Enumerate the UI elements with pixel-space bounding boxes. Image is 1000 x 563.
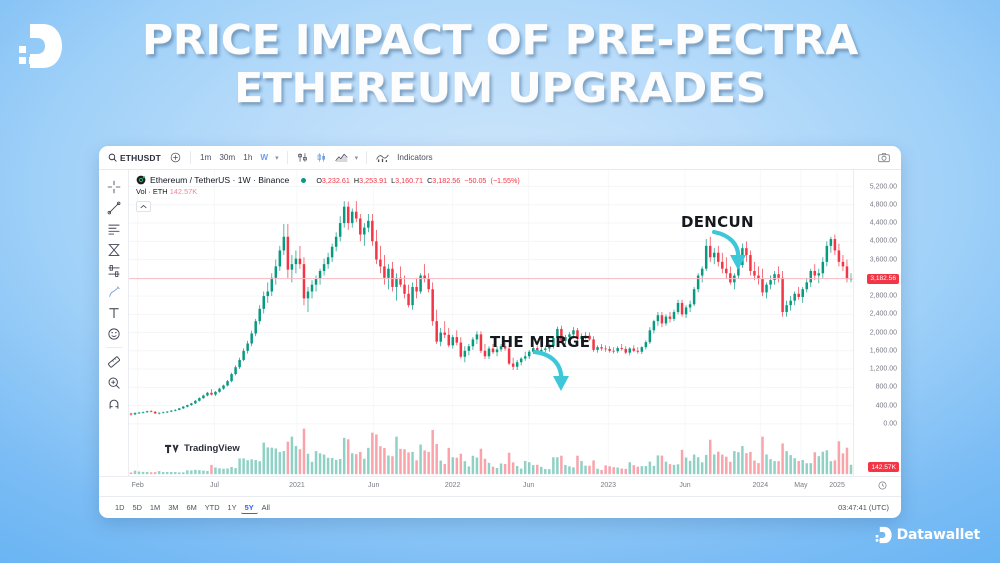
tool-text[interactable]: [103, 302, 125, 323]
chart-clock: 03:47:41 (UTC): [838, 503, 889, 512]
ohlc-h-val: 3,253.91: [359, 176, 387, 185]
trend-line-icon: [107, 201, 121, 215]
interval-1h[interactable]: 1h: [239, 151, 256, 164]
emoji-icon: [107, 327, 121, 341]
interval-w[interactable]: W: [256, 151, 272, 164]
indicators-label[interactable]: Indicators: [393, 151, 437, 164]
time-tick: Feb: [132, 482, 144, 489]
ohlc-c-val: 3,182.56: [432, 176, 460, 185]
range-5d[interactable]: 5D: [128, 502, 145, 513]
drawing-tools-rail: [99, 170, 129, 476]
legend-collapse-button[interactable]: [136, 201, 151, 212]
time-tick-list: FebJul2021Jun2022Jun2023Jun2024May2025: [129, 477, 853, 496]
tool-pattern[interactable]: [103, 260, 125, 281]
last-price-badge: 3,182.56: [867, 274, 899, 284]
crosshair-icon: [107, 180, 121, 194]
toolbar-divider: [366, 151, 367, 164]
symbol-label: ETHUSDT: [120, 153, 161, 163]
candlestick-icon: [316, 152, 327, 163]
tradingview-icon: [165, 444, 180, 454]
chart-type-icon: [335, 152, 348, 163]
price-tick: 400.00: [876, 402, 897, 409]
toolbar-divider: [190, 151, 191, 164]
tool-fib-retracement[interactable]: [103, 239, 125, 260]
time-tick: Jul: [210, 482, 219, 489]
time-tick: 2023: [600, 482, 616, 489]
tool-measure[interactable]: [103, 351, 125, 372]
price-tick: 4,400.00: [870, 220, 897, 227]
datawallet-footer: Datawallet: [875, 526, 980, 544]
price-tick: 4,800.00: [870, 201, 897, 208]
ethereum-icon: [136, 175, 146, 185]
time-scale[interactable]: FebJul2021Jun2022Jun2023Jun2024May2025: [99, 476, 901, 496]
range-all[interactable]: All: [258, 502, 274, 513]
price-tick: 3,600.00: [870, 256, 897, 263]
compare-icon: [297, 152, 308, 163]
indicators-icon: [376, 152, 389, 163]
legend-title: Ethereum / TetherUS · 1W · Binance: [150, 175, 289, 185]
page-title: PRICE IMPACT OF PRE-PECTRA ETHEREUM UPGR…: [0, 16, 1000, 112]
text-icon: [107, 306, 121, 320]
chart-body: Ethereum / TetherUS · 1W · Binance O3,23…: [99, 170, 901, 476]
indicators-button[interactable]: [372, 152, 393, 163]
tool-horizontal-lines[interactable]: [103, 218, 125, 239]
datawallet-d-logo: [875, 526, 892, 544]
tool-crosshair[interactable]: [103, 176, 125, 197]
symbol-search-button[interactable]: ETHUSDT: [106, 153, 166, 163]
price-scale[interactable]: 5,200.004,800.004,400.004,000.003,600.00…: [853, 170, 901, 476]
price-tick: 4,000.00: [870, 238, 897, 245]
chart-legend: Ethereum / TetherUS · 1W · Binance O3,23…: [136, 175, 520, 196]
time-tick: Jun: [523, 482, 534, 489]
tradingview-watermark: TradingView: [165, 443, 240, 454]
price-tick: 1,600.00: [870, 347, 897, 354]
range-ytd[interactable]: YTD: [201, 502, 224, 513]
range-6m[interactable]: 6M: [182, 502, 200, 513]
time-tick: 2021: [289, 482, 305, 489]
title-line-1: PRICE IMPACT OF PRE-PECTRA: [0, 16, 1000, 64]
tool-magnet[interactable]: [103, 393, 125, 414]
price-tick: 2,400.00: [870, 311, 897, 318]
compare-button[interactable]: [293, 152, 312, 163]
chart-pane[interactable]: Ethereum / TetherUS · 1W · Binance O3,23…: [129, 170, 853, 476]
ohlc-values: O3,232.61 H3,253.91 L3,160.71 C3,182.56 …: [316, 176, 520, 185]
ohlc-change: −50.05: [464, 176, 486, 185]
interval-30m[interactable]: 30m: [215, 151, 239, 164]
price-tick: 2,800.00: [870, 293, 897, 300]
time-tick: 2024: [753, 482, 769, 489]
volume-value: 142.57K: [170, 187, 198, 196]
tradingview-label: TradingView: [184, 443, 240, 454]
price-tick: 0.00: [883, 420, 897, 427]
volume-label: Vol · ETH: [136, 187, 168, 196]
range-1d[interactable]: 1D: [111, 502, 128, 513]
pattern-icon: [107, 264, 121, 278]
legend-primary-row: Ethereum / TetherUS · 1W · Binance O3,23…: [136, 175, 520, 185]
legend-volume-row: Vol · ETH 142.57K: [136, 187, 520, 196]
time-tick: 2025: [829, 482, 845, 489]
candlestick-style-button[interactable]: [312, 152, 331, 163]
tool-trend-line[interactable]: [103, 197, 125, 218]
time-tick: 2022: [445, 482, 461, 489]
time-tick: Jun: [368, 482, 379, 489]
chart-type-button[interactable]: [331, 152, 352, 163]
price-tick: 800.00: [876, 384, 897, 391]
interval-1m[interactable]: 1m: [196, 151, 215, 164]
range-3m[interactable]: 3M: [164, 502, 182, 513]
last-volume-badge: 142.57K: [868, 462, 899, 472]
camera-icon: [878, 152, 890, 163]
add-symbol-button[interactable]: [166, 152, 185, 163]
annotation-arrow-dencun: [709, 228, 749, 274]
toolbar-divider: [287, 151, 288, 164]
market-open-dot: [301, 178, 306, 183]
measure-icon: [107, 355, 121, 369]
tool-zoom-in[interactable]: [103, 372, 125, 393]
range-1y[interactable]: 1Y: [224, 502, 241, 513]
range-bar: 1D 5D 1M 3M 6M YTD 1Y 5Y All 03:47:41 (U…: [99, 496, 901, 518]
tool-emoji[interactable]: [103, 323, 125, 344]
timezone-button[interactable]: [878, 481, 887, 492]
snapshot-button[interactable]: [874, 152, 894, 163]
rail-divider: [106, 347, 122, 348]
fib-retracement-icon: [107, 243, 121, 257]
ohlc-o-val: 3,232.61: [322, 176, 350, 185]
plus-circle-icon: [170, 152, 181, 163]
brush-icon: [107, 285, 121, 299]
magnet-icon: [107, 397, 121, 411]
horizontal-lines-icon: [107, 222, 121, 236]
range-1m[interactable]: 1M: [146, 502, 164, 513]
price-tick: 5,200.00: [870, 183, 897, 190]
tradingview-chart-card: ETHUSDT 1m 30m 1h W ▾ ▾ Indicators: [99, 146, 901, 518]
chevron-up-icon: [140, 204, 147, 209]
interval-dropdown-chevron-down-icon[interactable]: ▾: [272, 154, 282, 162]
zoom-in-icon: [107, 376, 121, 390]
time-tick: Jun: [679, 482, 690, 489]
datawallet-label: Datawallet: [897, 527, 980, 543]
chart-type-chevron-down-icon[interactable]: ▾: [352, 154, 362, 162]
range-5y[interactable]: 5Y: [241, 502, 258, 514]
tool-brush[interactable]: [103, 281, 125, 302]
title-line-2: ETHEREUM UPGRADES: [0, 64, 1000, 112]
price-tick: 2,000.00: [870, 329, 897, 336]
chart-toolbar: ETHUSDT 1m 30m 1h W ▾ ▾ Indicators: [99, 146, 901, 170]
search-icon: [108, 153, 117, 162]
ohlc-change-pct: (−1.55%): [490, 176, 519, 185]
time-tick: May: [794, 482, 807, 489]
annotation-arrow-the-merge: [529, 348, 571, 396]
clock-icon: [878, 481, 887, 490]
price-tick: 1,200.00: [870, 366, 897, 373]
brand-logo: [17, 22, 63, 70]
ohlc-l-val: 3,160.71: [395, 176, 423, 185]
